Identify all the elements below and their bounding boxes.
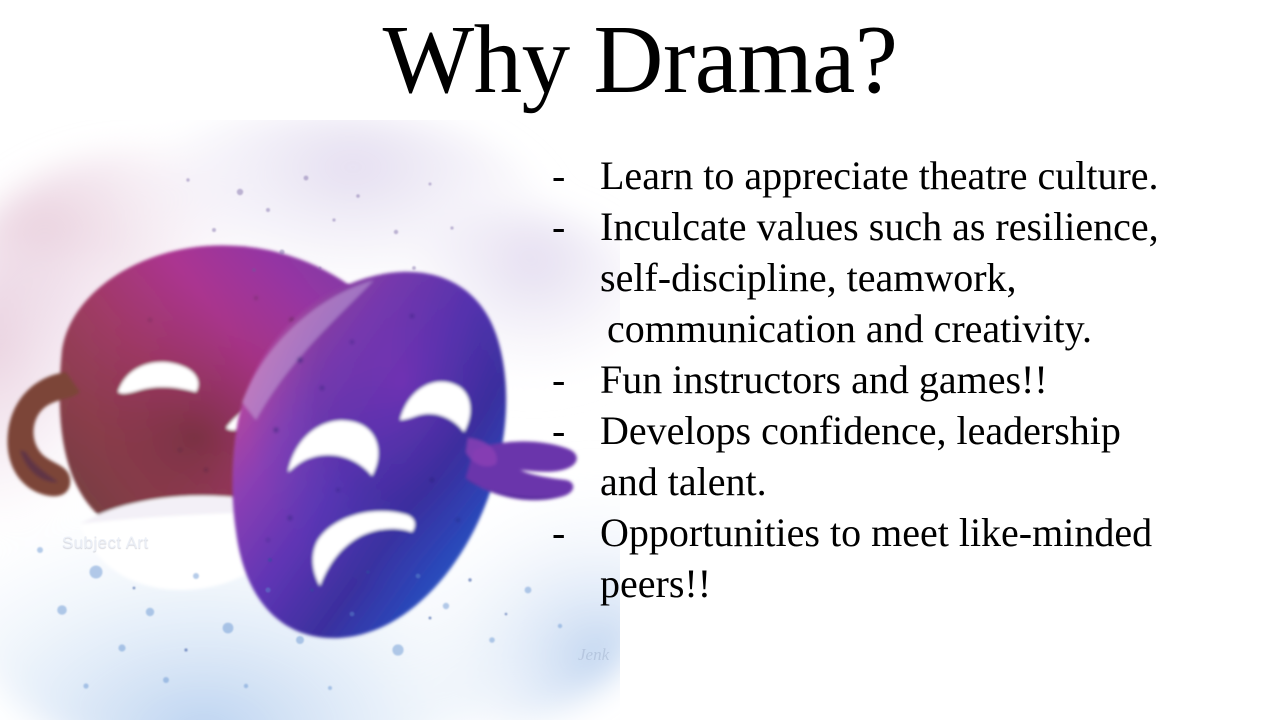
list-item-label: Fun instructors and games!! — [600, 354, 1048, 405]
list-item-label: self-discipline, teamwork, — [600, 252, 1017, 303]
bullet-dash-icon: - — [552, 150, 598, 201]
list-item-label: Develops confidence, leadership — [600, 405, 1121, 456]
list-item: - Learn to appreciate theatre culture. — [552, 150, 1280, 201]
list-item-label: communication and creativity. — [607, 303, 1092, 354]
list-item-continuation: communication and creativity. — [552, 303, 1280, 354]
list-item: - Inculcate values such as resilience, — [552, 201, 1280, 252]
list-item-label: and talent. — [600, 456, 767, 507]
list-item: - Develops confidence, leadership — [552, 405, 1280, 456]
bullet-list: - Learn to appreciate theatre culture. -… — [552, 150, 1280, 609]
bullet-dash-icon: - — [552, 354, 598, 405]
bullet-dash-icon: - — [552, 507, 598, 558]
list-item: - Opportunities to meet like-minded — [552, 507, 1280, 558]
theatre-masks-artwork: Subject Art — [0, 120, 620, 720]
list-item-continuation: self-discipline, teamwork, — [552, 252, 1280, 303]
page-title: Why Drama? — [0, 8, 1280, 113]
list-item-label: Learn to appreciate theatre culture. — [600, 150, 1159, 201]
list-item-continuation: and talent. — [552, 456, 1280, 507]
slide-canvas: Subject Art Jenk Why Drama? - Learn to a… — [0, 0, 1280, 720]
bullet-dash-icon: - — [552, 201, 598, 252]
list-item-label: Opportunities to meet like-minded — [600, 507, 1152, 558]
list-item: - Fun instructors and games!! — [552, 354, 1280, 405]
list-item-label: peers!! — [600, 558, 711, 609]
bullet-dash-icon: - — [552, 405, 598, 456]
list-item-continuation: peers!! — [552, 558, 1280, 609]
list-item-label: Inculcate values such as resilience, — [600, 201, 1159, 252]
